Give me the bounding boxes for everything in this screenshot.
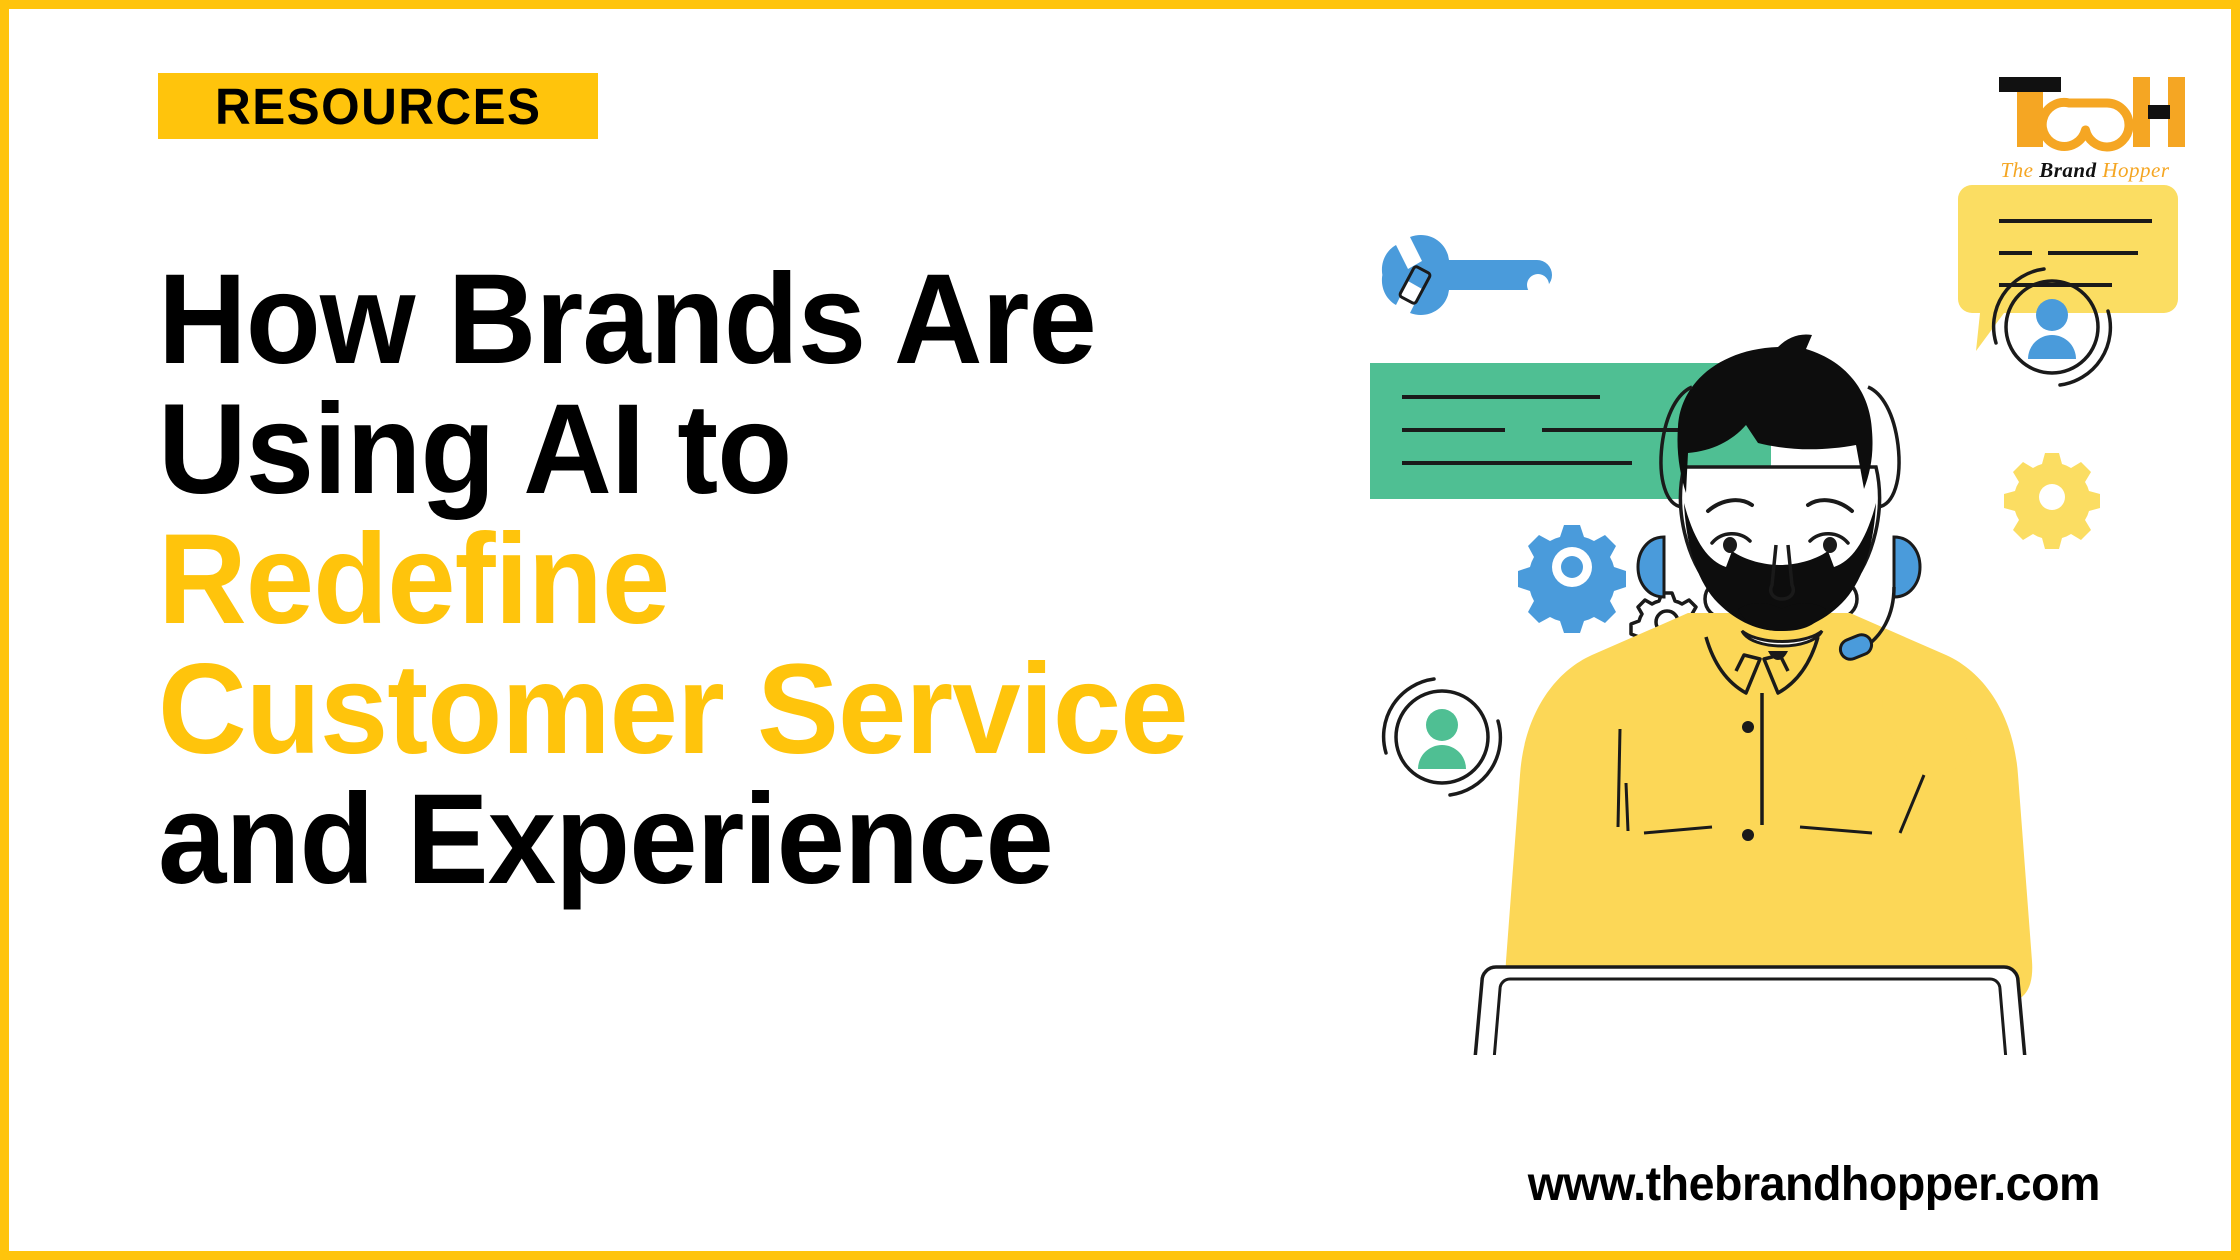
headline-line-1: How Brands Are [158, 255, 1272, 385]
resources-badge-label: RESOURCES [215, 81, 541, 132]
logo-tagline-prefix: The [2000, 158, 2039, 182]
headline-line-4: Customer Service [158, 645, 1272, 775]
user-avatar-green [1384, 679, 1501, 795]
website-url: www.thebrandhopper.com [1528, 1157, 2100, 1212]
yellow-chat-bubble [1958, 185, 2178, 351]
headline-line-2: Using AI to [158, 385, 1272, 515]
banner-canvas: RESOURCES How Brands Are Using AI to Red… [0, 0, 2240, 1260]
logo-tagline-brand: Brand [2039, 158, 2096, 182]
brand-logo: The Brand Hopper [1985, 55, 2185, 185]
headline-line-3: Redefine [158, 515, 1272, 645]
wrench-icon [1382, 235, 1552, 315]
blue-gear-icon [1518, 525, 1626, 633]
illustration-svg: ***** [1370, 185, 2230, 1055]
customer-service-illustration: ***** [1370, 185, 2230, 1055]
headset-earcup-right [1894, 537, 1920, 597]
logo-tagline: The Brand Hopper [1985, 158, 2185, 183]
headline-line-5: and Experience [158, 775, 1272, 905]
yellow-gear-icon [2004, 453, 2100, 549]
headset-earcup-left [1638, 537, 1664, 597]
headline: How Brands Are Using AI to Redefine Cust… [158, 255, 1318, 905]
logo-mark-icon [1985, 55, 2185, 155]
resources-badge: RESOURCES [158, 73, 598, 139]
logo-tagline-suffix: Hopper [2097, 158, 2170, 182]
laptop [1460, 967, 2040, 1055]
